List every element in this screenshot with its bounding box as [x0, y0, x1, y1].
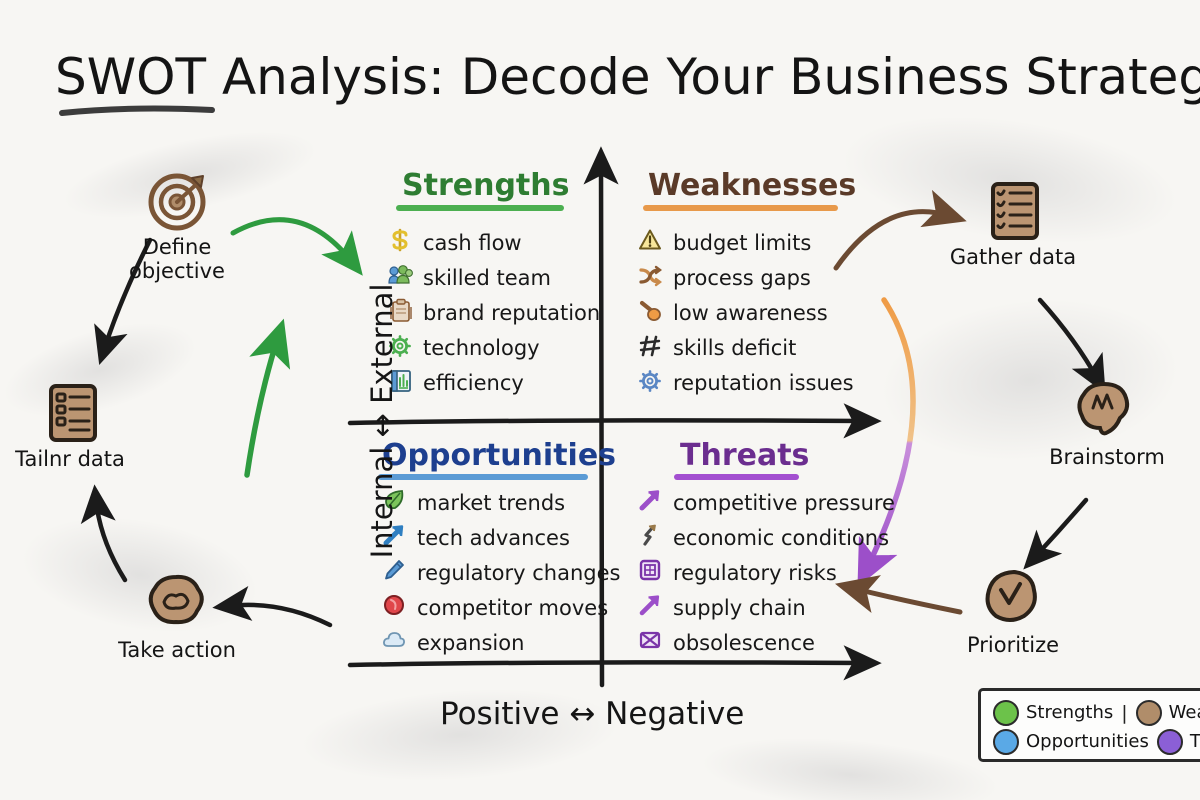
quadrant-items-threats: competitive pressure economic conditions…: [636, 485, 895, 660]
quadrant-items-strengths: cash flow skilled team brand reputation …: [386, 225, 600, 400]
list-item-label: cash flow: [423, 231, 522, 255]
list-item-label: tech advances: [417, 526, 570, 550]
legend-row: Opportunities Thr: [993, 727, 1200, 756]
flow-arrow-brainstorm-to-prioritize: [1034, 500, 1086, 558]
list-item-label: market trends: [417, 491, 565, 515]
process-node-label: Take action: [92, 639, 262, 663]
target-icon: [148, 172, 206, 230]
list-item[interactable]: cash flow: [386, 225, 600, 260]
list-item-label: expansion: [417, 631, 524, 655]
shuffle-icon: [636, 265, 662, 291]
crossed-box-icon: [636, 630, 662, 656]
list-item-label: competitor moves: [417, 596, 608, 620]
paper-smudge: [698, 727, 1003, 800]
legend-label-weaknesses: Weak: [1169, 702, 1200, 723]
list-item[interactable]: low awareness: [636, 295, 854, 330]
list-item[interactable]: brand reputation: [386, 295, 600, 330]
gear-icon: [636, 370, 662, 396]
legend-dot-weaknesses: [1136, 700, 1162, 726]
process-node-take-action[interactable]: Take action: [92, 575, 262, 663]
arrow-up-right-icon: [636, 490, 662, 516]
list-item-label: skilled team: [423, 266, 551, 290]
legend: Strengths | Weak Opportunities Thr: [978, 688, 1200, 762]
process-node-label: Tailnr data: [0, 448, 155, 472]
list-item[interactable]: market trends: [380, 485, 620, 520]
zigzag-icon: [636, 525, 662, 551]
axes-and-arrows-layer: [0, 0, 1200, 800]
list-item-label: obsolescence: [673, 631, 815, 655]
list-item[interactable]: process gaps: [636, 260, 854, 295]
checklist-icon: [984, 182, 1042, 240]
list-item-label: low awareness: [673, 301, 828, 325]
swot-diagram-canvas: SWOT Analysis: Decode Your Business Stra…: [0, 0, 1200, 800]
process-node-label: Gather data: [928, 246, 1098, 270]
process-node-label: Brainstorm: [1022, 446, 1192, 470]
green-flow-arrow-lower: [247, 337, 278, 475]
list-item[interactable]: regulatory changes: [380, 555, 620, 590]
dollar-sign-icon: [386, 230, 412, 256]
process-node-tailnr-data[interactable]: Tailnr data: [0, 384, 155, 472]
list-item[interactable]: skills deficit: [636, 330, 854, 365]
list-item[interactable]: efficiency: [386, 365, 600, 400]
quadrant-heading-weaknesses: Weaknesses: [648, 168, 856, 203]
quadrant-items-opportunities: market trends tech advances regulatory c…: [380, 485, 620, 660]
legend-separator: |: [1121, 702, 1127, 724]
list-item-label: brand reputation: [423, 301, 600, 325]
list-item-label: competitive pressure: [673, 491, 895, 515]
process-node-gather-data[interactable]: Gather data: [928, 182, 1098, 270]
quadrant-underline-strengths: [396, 205, 564, 211]
axis-label-horizontal: Positive ↔ Negative: [440, 696, 744, 732]
list-item-label: economic conditions: [673, 526, 889, 550]
list-item[interactable]: competitive pressure: [636, 485, 895, 520]
list-item[interactable]: budget limits: [636, 225, 854, 260]
quadrant-heading-threats: Threats: [680, 438, 809, 473]
legend-dot-threats: [1157, 729, 1183, 755]
quadrant-underline-threats: [674, 474, 799, 480]
flow-arrow-gather-to-brainstorm: [1040, 300, 1098, 380]
process-node-define-objective[interactable]: Define objective: [92, 172, 262, 283]
megaphone-icon: [636, 300, 662, 326]
quadrant-heading-strengths: Strengths: [402, 168, 569, 203]
list-item[interactable]: tech advances: [380, 520, 620, 555]
legend-label-strengths: Strengths: [1026, 702, 1113, 723]
broken-line-icon: [636, 335, 662, 361]
list-item[interactable]: obsolescence: [636, 625, 895, 660]
matrix-horizontal-midline: [350, 420, 866, 423]
quadrant-heading-opportunities: Opportunities: [382, 438, 616, 473]
list-item[interactable]: supply chain: [636, 590, 895, 625]
quadrant-items-weaknesses: budget limits process gaps low awareness…: [636, 225, 854, 400]
process-node-label: Prioritize: [928, 634, 1098, 658]
brain-icon: [1078, 382, 1136, 440]
list-item-label: efficiency: [423, 371, 524, 395]
list-item-label: regulatory changes: [417, 561, 620, 585]
process-node-brainstorm[interactable]: Brainstorm: [1022, 382, 1192, 470]
legend-label-opportunities: Opportunities: [1026, 731, 1149, 752]
list-item-label: reputation issues: [673, 371, 854, 395]
matrix-bottom-axis: [350, 662, 866, 665]
list-item[interactable]: skilled team: [386, 260, 600, 295]
process-node-prioritize[interactable]: Prioritize: [928, 570, 1098, 658]
list-item[interactable]: competitor moves: [380, 590, 620, 625]
checklist-icon: [41, 384, 99, 442]
quadrant-underline-weaknesses: [643, 205, 838, 211]
list-item[interactable]: regulatory risks: [636, 555, 895, 590]
red-circle-icon: [380, 595, 406, 621]
list-item-label: process gaps: [673, 266, 811, 290]
cloud-icon: [380, 630, 406, 656]
list-item-label: budget limits: [673, 231, 811, 255]
list-item-label: regulatory risks: [673, 561, 837, 585]
list-item[interactable]: reputation issues: [636, 365, 854, 400]
arrow-up-right-icon: [636, 595, 662, 621]
legend-dot-strengths: [993, 700, 1019, 726]
list-item[interactable]: technology: [386, 330, 600, 365]
warning-triangle-icon: [636, 230, 662, 256]
check-blob-icon: [984, 570, 1042, 628]
legend-label-threats: Thr: [1190, 731, 1200, 752]
page-title: SWOT Analysis: Decode Your Business Stra…: [55, 48, 1200, 106]
list-item-label: skills deficit: [673, 336, 796, 360]
building-square-icon: [636, 560, 662, 586]
brain-icon: [148, 575, 206, 633]
legend-dot-opportunities: [993, 729, 1019, 755]
list-item[interactable]: economic conditions: [636, 520, 895, 555]
title-underline-layer: [0, 0, 1200, 800]
axis-label-vertical: Internal ↔ External: [365, 261, 399, 581]
process-node-label: Define objective: [92, 236, 262, 283]
list-item-label: technology: [423, 336, 540, 360]
quadrant-underline-opportunities: [378, 474, 588, 480]
legend-row: Strengths | Weak: [993, 698, 1200, 727]
flow-arrow-takeaction-to-tailnr: [96, 500, 125, 580]
list-item[interactable]: expansion: [380, 625, 620, 660]
list-item-label: supply chain: [673, 596, 806, 620]
